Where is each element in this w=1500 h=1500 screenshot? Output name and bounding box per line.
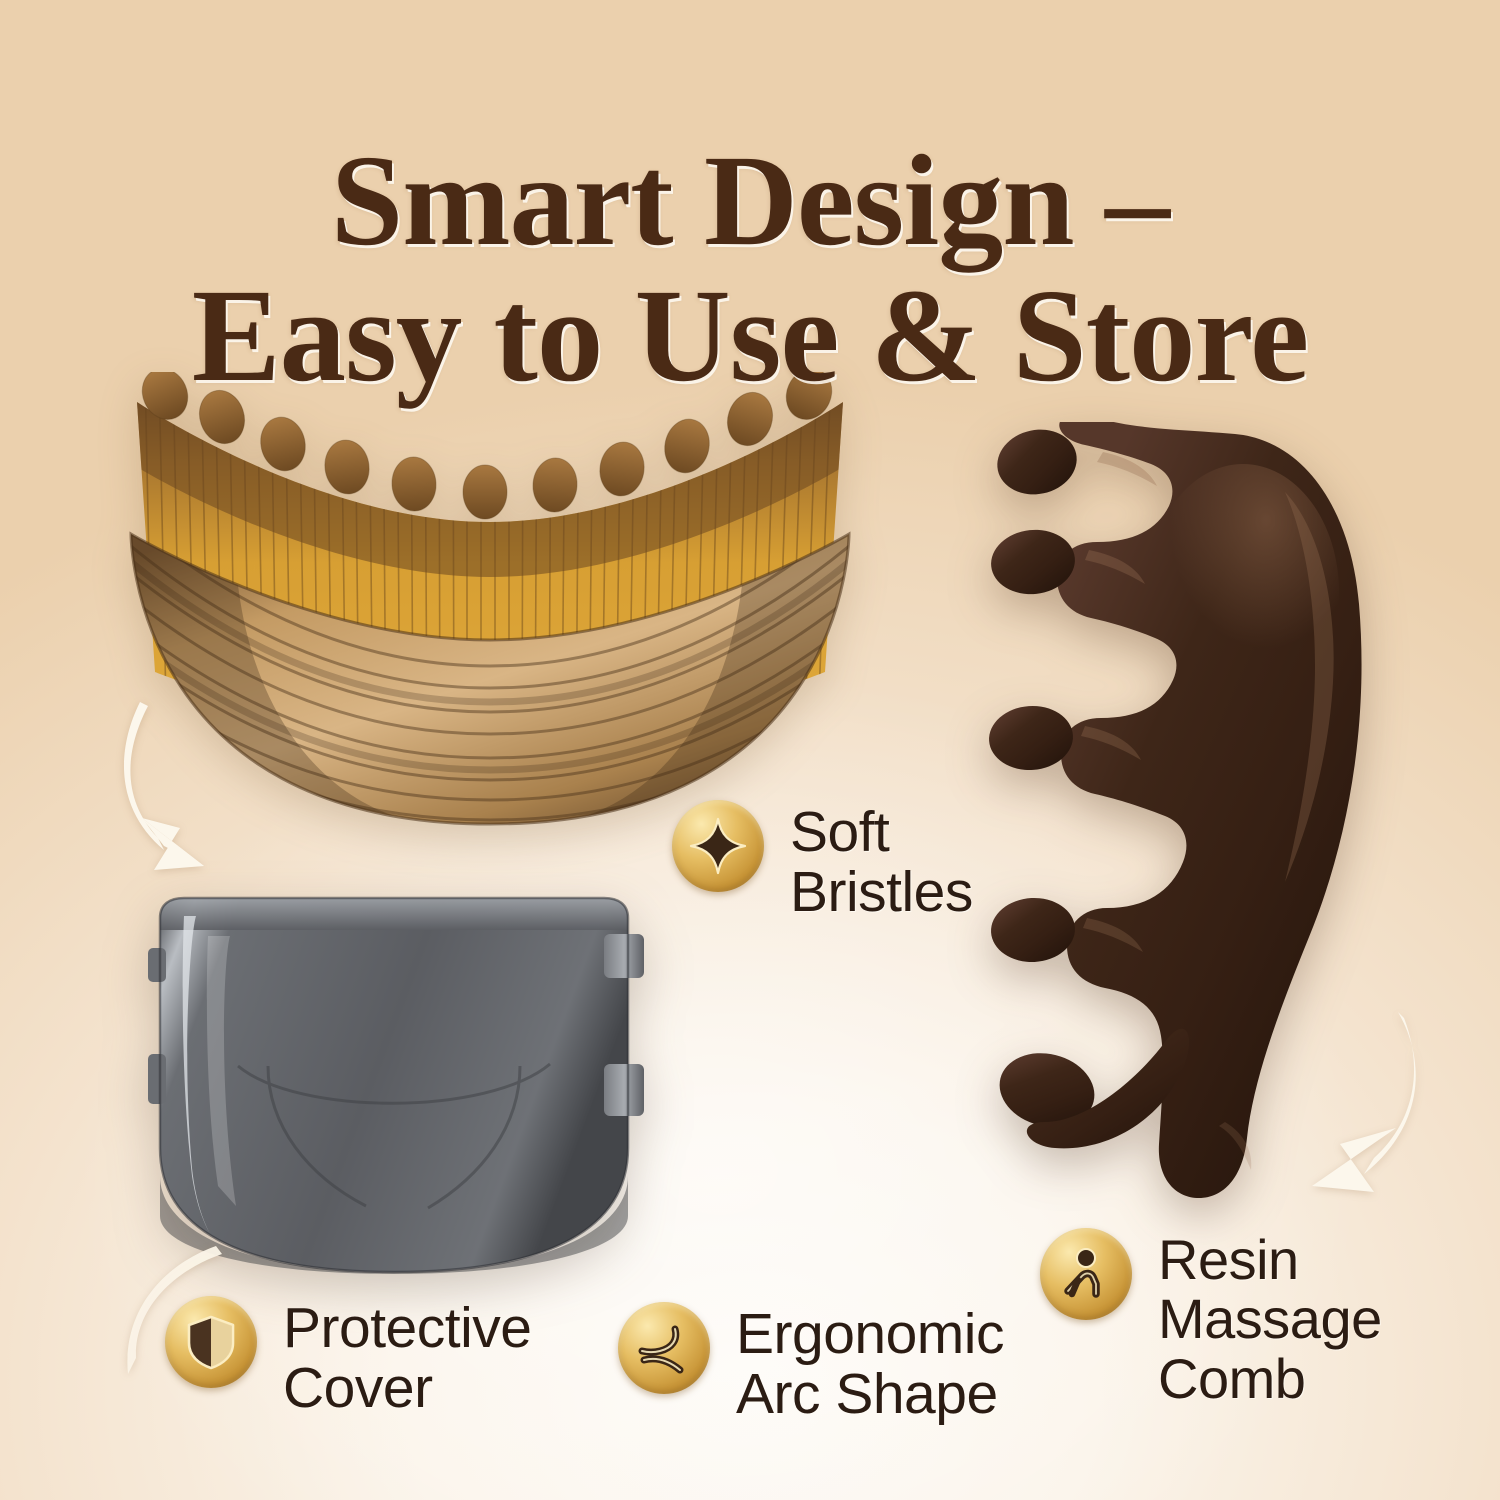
protective-cover-image: [138, 876, 650, 1286]
feature-label: Soft Bristles: [790, 800, 973, 923]
arc-curve-icon: [634, 1318, 694, 1378]
massage-person-icon: [1056, 1244, 1116, 1304]
page-title: Smart Design – Easy to Use & Store: [0, 135, 1500, 403]
soft-bristles-badge: [672, 800, 764, 892]
protective-cover-badge: [165, 1296, 257, 1388]
feature-protective-cover[interactable]: Protective Cover: [165, 1296, 531, 1419]
feature-ergonomic-arc-shape[interactable]: Ergonomic Arc Shape: [618, 1302, 1004, 1425]
infographic-canvas: Smart Design – Easy to Use & Store: [0, 0, 1500, 1500]
title-line-1: Smart Design –: [331, 129, 1169, 273]
sparkle-star-icon: [688, 816, 748, 876]
arrow-to-comb-icon: [1278, 1008, 1463, 1213]
feature-resin-massage-comb[interactable]: Resin Massage Comb: [1040, 1228, 1382, 1408]
ergonomic-arc-badge: [618, 1302, 710, 1394]
feature-label: Ergonomic Arc Shape: [736, 1302, 1004, 1425]
title-line-2: Easy to Use & Store: [0, 268, 1500, 404]
feature-soft-bristles[interactable]: Soft Bristles: [672, 800, 973, 923]
arrow-to-cover-icon: [112, 688, 287, 884]
shield-icon: [181, 1312, 241, 1372]
resin-massage-comb-badge: [1040, 1228, 1132, 1320]
feature-label: Protective Cover: [283, 1296, 531, 1419]
feature-label: Resin Massage Comb: [1158, 1228, 1382, 1408]
